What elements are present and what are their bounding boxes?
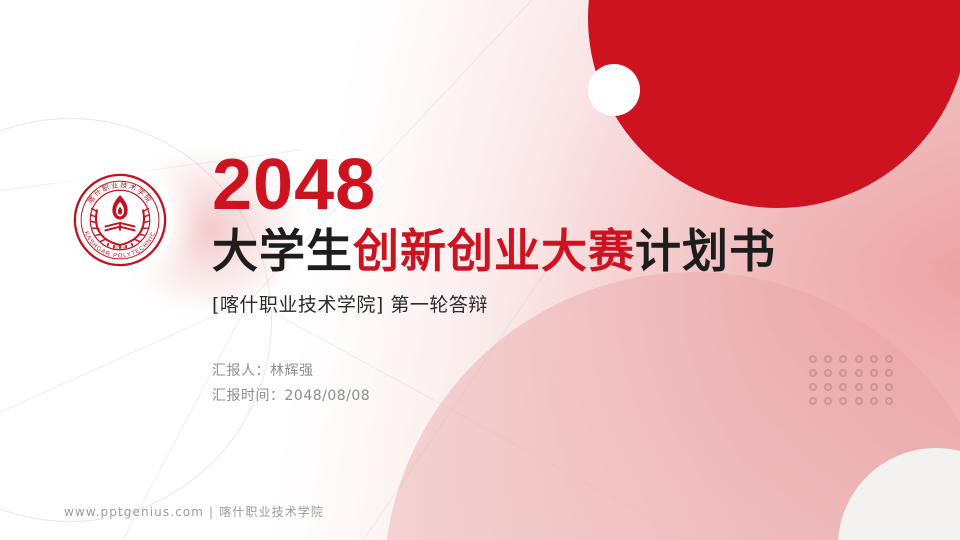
footer-website[interactable]: www.pptgenius.com: [64, 505, 204, 519]
presenter-name: 汇报人：林辉强: [212, 359, 852, 384]
university-seal-icon: 喀什职业技术学院 KASHGAR POLYTECHNIC 20: [72, 172, 168, 268]
headline-part-3: 计划书: [635, 224, 776, 278]
grid-dot: [885, 383, 893, 391]
svg-text:2019: 2019: [114, 245, 126, 250]
year-heading: 2048: [212, 150, 852, 221]
footer: www.pptgenius.com|喀什职业技术学院: [64, 503, 324, 520]
headline-part-2-highlight: 创新创业大赛: [353, 224, 635, 278]
grid-dot: [885, 355, 893, 363]
grid-dot: [870, 397, 878, 405]
grid-dot: [885, 369, 893, 377]
grid-dot: [855, 355, 863, 363]
grid-dot: [870, 383, 878, 391]
headline-part-1: 大学生: [212, 224, 353, 278]
grid-dot: [885, 397, 893, 405]
grid-dot: [855, 383, 863, 391]
decorative-white-dot-circle: [588, 64, 640, 116]
grid-dot: [855, 397, 863, 405]
footer-separator: |: [209, 505, 214, 519]
presenter-meta-block: 汇报人：林辉强 汇报时间：2048/08/08: [212, 359, 852, 408]
subtitle: [喀什职业技术学院] 第一轮答辩: [212, 290, 852, 317]
presentation-cover-slide: 喀什职业技术学院 KASHGAR POLYTECHNIC 20: [0, 0, 960, 540]
grid-dot: [870, 355, 878, 363]
grid-dot: [855, 369, 863, 377]
report-date: 汇报时间：2048/08/08: [212, 384, 852, 409]
title-text-block: 2048 大学生创新创业大赛计划书 [喀什职业技术学院] 第一轮答辩 汇报人：林…: [212, 150, 852, 408]
university-logo-badge: 喀什职业技术学院 KASHGAR POLYTECHNIC 20: [66, 166, 174, 274]
grid-dot: [870, 369, 878, 377]
main-headline: 大学生创新创业大赛计划书: [212, 227, 852, 277]
footer-organization: 喀什职业技术学院: [219, 505, 324, 519]
